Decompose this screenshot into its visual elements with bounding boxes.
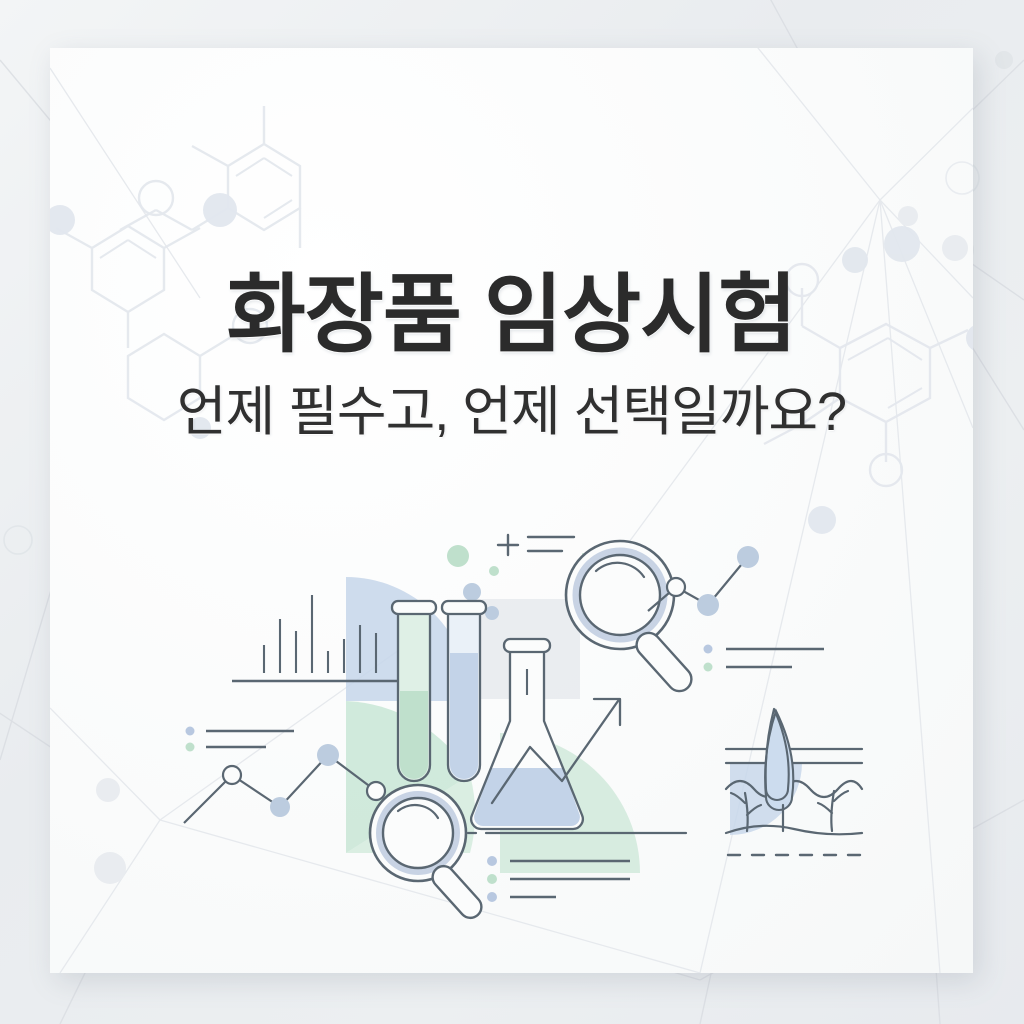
text-line-group-left bbox=[186, 727, 295, 752]
scatter-node bbox=[737, 546, 759, 568]
line-chart-node bbox=[317, 744, 339, 766]
heading-block: 화장품 임상시험 언제 필수고, 언제 선택일까요? bbox=[50, 270, 973, 443]
line-chart-node bbox=[367, 782, 385, 800]
plus-equals-marks bbox=[498, 535, 574, 555]
scatter-node bbox=[697, 594, 719, 616]
content-card: 화장품 임상시험 언제 필수고, 언제 선택일까요? bbox=[50, 48, 973, 973]
cosmetic-clinical-trial-illustration bbox=[170, 503, 910, 923]
page-title: 화장품 임상시험 bbox=[50, 270, 973, 361]
scatter-node bbox=[667, 578, 685, 596]
magnifier-large bbox=[566, 541, 696, 696]
page-subtitle: 언제 필수고, 언제 선택일까요? bbox=[50, 383, 973, 442]
test-tube-green bbox=[392, 601, 436, 781]
text-line-group-right bbox=[704, 645, 825, 672]
line-chart-node bbox=[270, 797, 290, 817]
test-tube-blue bbox=[442, 601, 486, 781]
line-chart-node bbox=[223, 766, 241, 784]
